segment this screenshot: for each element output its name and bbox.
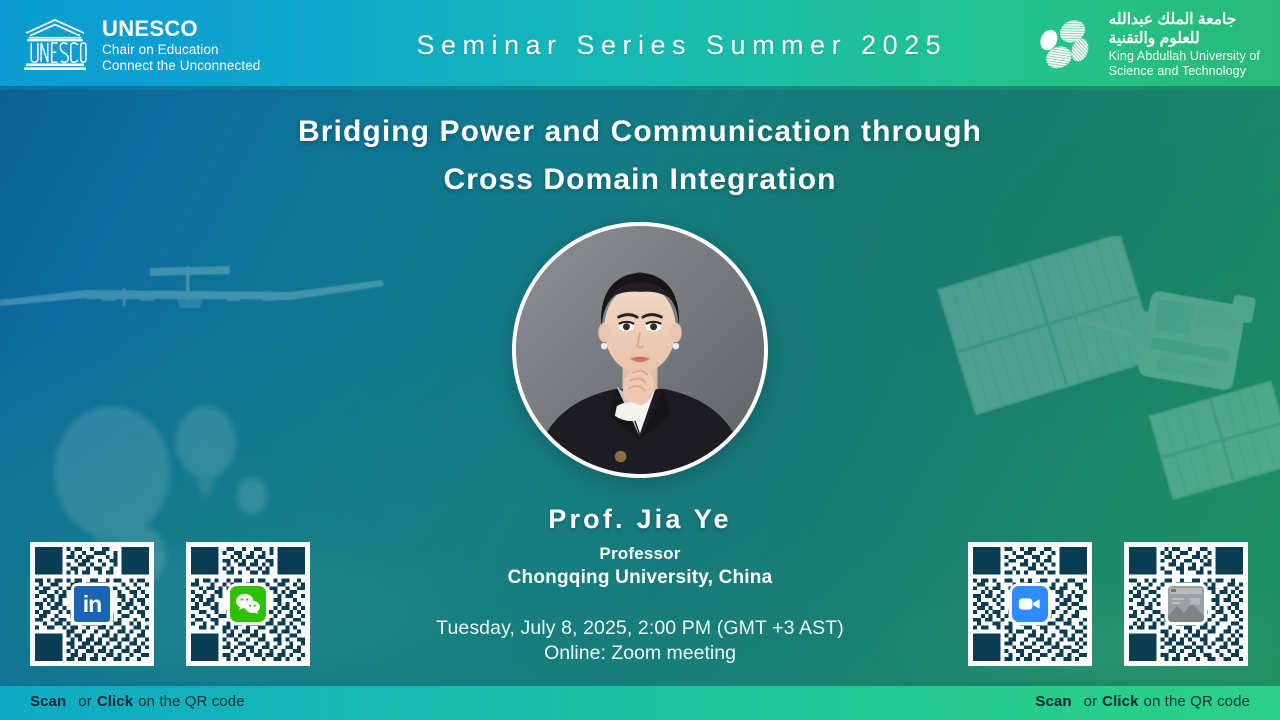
unesco-branding: UNESCO Chair on Education Connect the Un… xyxy=(0,0,340,90)
or-label-right: or xyxy=(1084,693,1098,710)
scan-note-left: Scan or Click on the QR code xyxy=(30,693,245,710)
header-bar: UNESCO Chair on Education Connect the Un… xyxy=(0,0,1280,90)
kaust-arabic-line1: جامعة الملك عبدالله xyxy=(1109,11,1260,30)
unesco-subtitle-line2: Connect the Unconnected xyxy=(102,58,260,74)
kaust-english-line2: Science and Technology xyxy=(1109,64,1260,79)
footer-bar: Scan or Click on the QR code Scan or Cli… xyxy=(0,682,1280,720)
scan-tail-right: on the QR code xyxy=(1144,693,1250,710)
linkedin-icon: in xyxy=(74,586,110,622)
linkedin-qr[interactable]: in xyxy=(30,542,154,666)
unesco-title: UNESCO xyxy=(102,16,260,42)
video-camera-glyph xyxy=(1018,596,1042,612)
talk-title: Bridging Power and Communication through… xyxy=(140,108,1140,204)
wechat-bubbles-icon xyxy=(234,590,262,618)
speaker-portrait xyxy=(512,222,768,478)
scan-label-left: Scan xyxy=(30,693,66,710)
unesco-text-block: UNESCO Chair on Education Connect the Un… xyxy=(102,16,260,74)
flyer-thumbnail-glyph xyxy=(1168,586,1204,622)
kaust-branding: جامعة الملك عبدالله للعلوم والتقنية King… xyxy=(1034,0,1280,90)
linkedin-badge-label: in xyxy=(83,593,101,616)
talk-title-line2: Cross Domain Integration xyxy=(140,156,1140,204)
speaker-name: Prof. Jia Ye xyxy=(548,504,732,535)
scan-label-right: Scan xyxy=(1035,693,1071,710)
zoom-camera-icon xyxy=(1012,586,1048,622)
wechat-icon xyxy=(230,586,266,622)
speaker-affiliation: Chongqing University, China xyxy=(508,567,773,589)
kaust-arabic-line2: للعلوم والتقنية xyxy=(1109,30,1260,49)
kaust-text-block: جامعة الملك عبدالله للعلوم والتقنية King… xyxy=(1109,11,1260,79)
event-datetime: Tuesday, July 8, 2025, 2:00 PM (GMT +3 A… xyxy=(436,617,844,640)
click-label-left: Click xyxy=(97,693,133,710)
talk-title-line1: Bridging Power and Communication through xyxy=(298,115,982,148)
speaker-portrait-image xyxy=(516,226,764,474)
unesco-subtitle-line1: Chair on Education xyxy=(102,42,260,58)
flyer-qr[interactable] xyxy=(1124,542,1248,666)
image-thumbnail-icon xyxy=(1168,586,1204,622)
unesco-temple-emblem-icon xyxy=(22,16,88,74)
scan-note-right: Scan or Click on the QR code xyxy=(1035,693,1250,710)
or-label-left: or xyxy=(78,693,92,710)
seminar-poster: UNESCO Chair on Education Connect the Un… xyxy=(0,0,1280,720)
zoom-qr[interactable] xyxy=(968,542,1092,666)
kaust-english-line1: King Abdullah University of xyxy=(1109,49,1260,64)
speaker-role: Professor xyxy=(599,544,680,564)
seminar-series-title: Seminar Series Summer 2025 xyxy=(340,30,1034,61)
scan-tail-left: on the QR code xyxy=(138,693,244,710)
qr-group-left: in xyxy=(30,542,310,666)
qr-group-right xyxy=(968,542,1248,666)
event-mode: Online: Zoom meeting xyxy=(544,642,736,665)
wechat-qr[interactable] xyxy=(186,542,310,666)
click-label-right: Click xyxy=(1102,693,1138,710)
kaust-pinwheel-emblem-icon xyxy=(1034,14,1096,76)
